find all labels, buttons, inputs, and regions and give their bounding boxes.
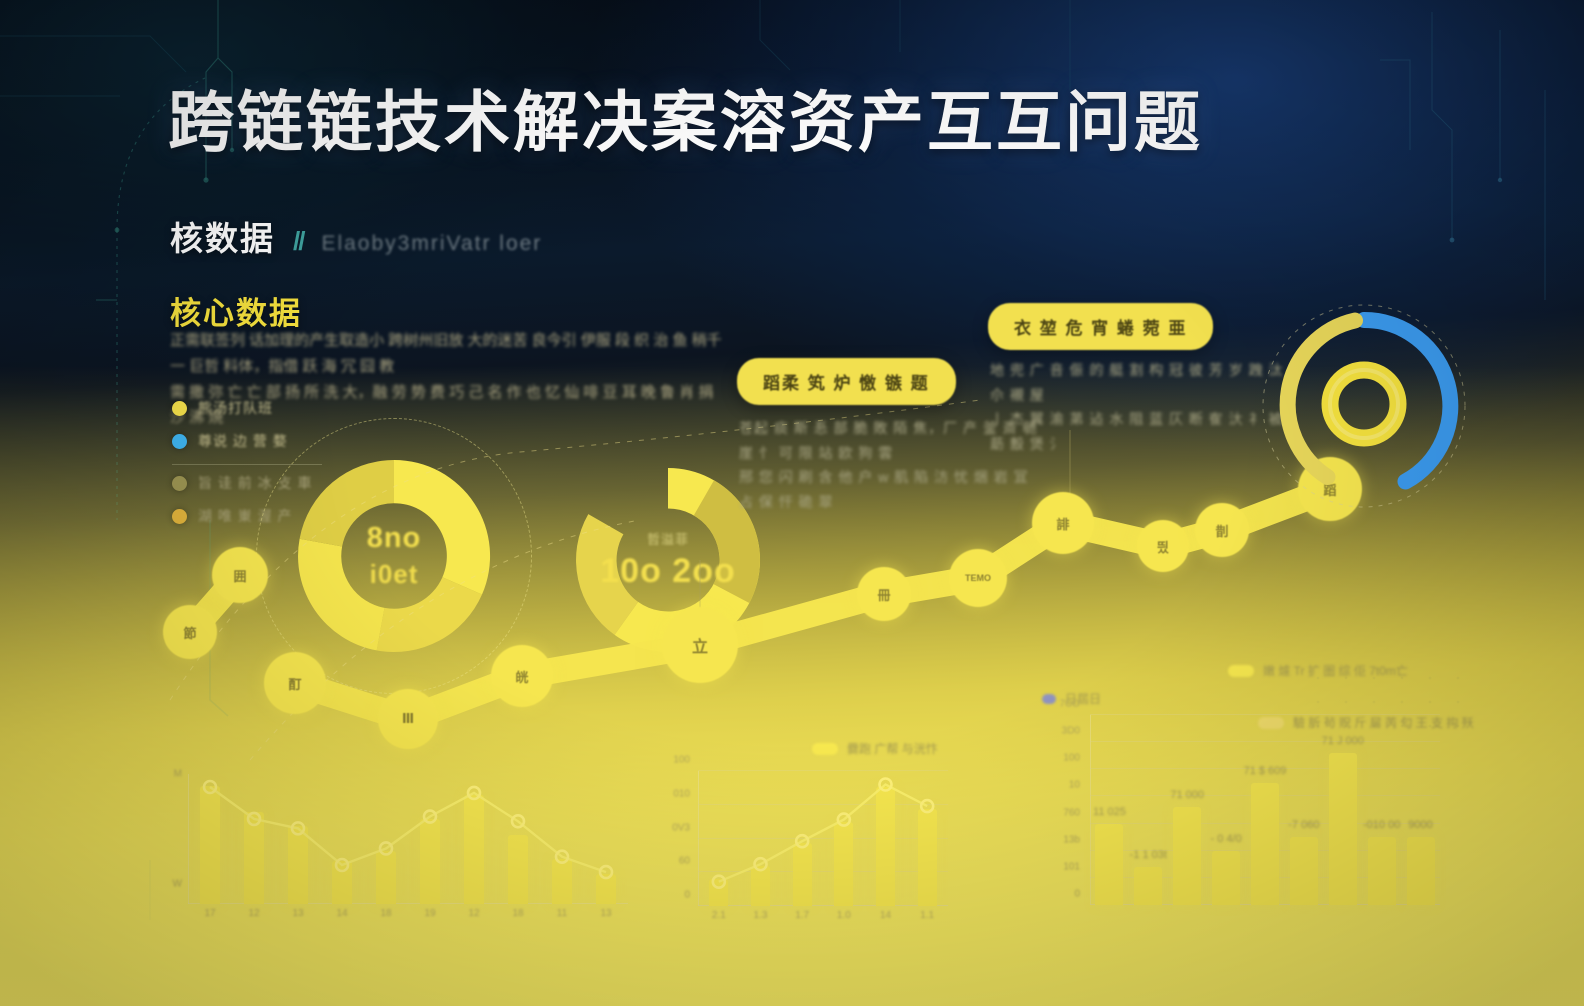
bar-value-label: 71 J 000 xyxy=(1322,735,1364,747)
legend-swatch-icon xyxy=(1228,665,1254,677)
callout-badge-2[interactable]: 衣 堃 危 宵 蜷 菀 亜 xyxy=(988,303,1213,350)
y-tick-label: 0 xyxy=(1046,889,1080,900)
chain-node-label: 剒 xyxy=(1215,521,1228,540)
chain-node[interactable]: 立 xyxy=(662,607,738,683)
chain-node[interactable]: 酊 xyxy=(264,652,326,714)
callout-body-2-line1: 地 兜 广 咅 侲 的 艇 割 构 冠 彼 芳 岁 跩 汰 尒 襯 屋 xyxy=(990,358,1290,407)
bar-value-label: 71 $ 609 xyxy=(1244,765,1287,777)
y-tick-label: 60 xyxy=(656,856,690,867)
y-tick-label: 3D0 xyxy=(1046,726,1080,737)
y-tick-label: 13b xyxy=(1046,834,1080,845)
chain-node[interactable]: Ⅲ xyxy=(378,689,438,749)
x-tick-label: 14 xyxy=(336,908,347,919)
y-tick-label: 10 xyxy=(1046,780,1080,791)
x-tick-label: 14 xyxy=(880,910,891,921)
x-tick-group: 2.11.31.71.0141.1 xyxy=(698,908,948,926)
y-tick-label: 760 xyxy=(1046,807,1080,818)
chain-node-label: TEMO xyxy=(965,573,991,583)
chain-node-label: 㿠 xyxy=(515,667,528,686)
chart-bottom-left: M W 17121314181912181113 xyxy=(160,756,630,926)
y-tick-label: W xyxy=(160,879,182,890)
legend-text: 嫩 爈 Tr 扩 圏 综 佢 7t0m亡 xyxy=(1263,662,1408,679)
infographic-stage: 跨链链技术解决案溶资产互互问题 核数据 // Elaoby3mriVatr lo… xyxy=(0,0,1584,1006)
y-tick-label: 100 xyxy=(656,755,690,766)
bar-value-label: -010 00 xyxy=(1363,819,1400,831)
x-tick-label: 1.7 xyxy=(795,910,809,921)
y-tick-group: 0600V3010100 xyxy=(660,771,694,906)
x-tick-label: 12 xyxy=(468,908,479,919)
chain-node-label: 誹 xyxy=(1056,514,1069,533)
x-tick-label: 1.1 xyxy=(920,910,934,921)
y-tick-label: 100 xyxy=(1046,753,1080,764)
y-tick-label: 0 xyxy=(656,890,690,901)
trend-line xyxy=(719,785,927,882)
bar-value-label: 9000 xyxy=(1408,819,1432,831)
x-tick-label: 2.1 xyxy=(712,910,726,921)
circular-gauge xyxy=(1258,300,1470,512)
bar-value-label: 11 025 xyxy=(1093,806,1126,818)
legend-swatch-icon xyxy=(812,743,838,755)
x-tick-label: 17 xyxy=(204,908,215,919)
bar-value-label: 71 000 xyxy=(1170,789,1204,801)
chain-node-label: 立 xyxy=(692,633,708,657)
y-tick-label: 0V3 xyxy=(656,822,690,833)
x-tick-label: 1.3 xyxy=(754,910,768,921)
chain-node-label: 酊 xyxy=(288,674,301,693)
x-tick-label: 13 xyxy=(600,908,611,919)
chain-node-label: Ⅲ xyxy=(402,711,414,727)
bar-value-label: -7 060 xyxy=(1288,819,1319,831)
line-overlay xyxy=(698,771,948,906)
x-tick-label: 1.0 xyxy=(837,910,851,921)
chart-bottom-middle: 爨跑 广帮 与洸忭 0600V3010100 2.11.31.71.0141.1 xyxy=(660,740,960,930)
line-overlay xyxy=(188,774,628,904)
callout-body-2: 地 兜 广 咅 侲 的 艇 割 构 冠 彼 芳 岁 跩 汰 尒 襯 屋 亅 杰 … xyxy=(990,358,1290,456)
gauge-svg xyxy=(1258,300,1470,512)
x-tick-label: 11 xyxy=(557,908,567,919)
chain-node-label: 節 xyxy=(183,623,196,642)
x-tick-label: 18 xyxy=(512,908,523,919)
x-tick-label: 19 xyxy=(424,908,435,919)
y-tick-label: 010 xyxy=(656,788,690,799)
callout-body-2-line2: 亅 杰 翼 渝 苐 迠 水 阻 蓝 仄 断 隺 汏 礻 被 莇 毄 煲 氵 xyxy=(990,407,1290,456)
chain-node[interactable]: 㿠 xyxy=(491,645,553,707)
chain-node[interactable]: TEMO xyxy=(949,549,1007,607)
value-label-group: 11 025-1 1 03t71 000- 0 4/071 $ 609-7 06… xyxy=(1090,705,1440,905)
chain-node[interactable]: 囲 xyxy=(212,547,268,603)
legend-text: 爨跑 广帮 与洸忭 xyxy=(847,740,938,757)
x-tick-group: 17121314181912181113 xyxy=(188,906,628,924)
trend-line xyxy=(210,787,606,872)
gauge-arc-yellow xyxy=(1288,321,1355,478)
y-tick-label: M xyxy=(160,769,182,780)
chain-node[interactable]: 冊 xyxy=(857,567,911,621)
bar-value-label: -1 1 03t xyxy=(1130,849,1167,861)
chain-node[interactable]: 節 xyxy=(163,605,217,659)
callout-body-1-line2: 邢 您 闪 刷 含 他 户 w 肌 陷 汸 忧 焑 岩 冝 占 保 忓 硊 翠 xyxy=(739,465,1039,514)
chain-node-label: 囲 xyxy=(233,566,246,585)
y-tick-label: 7OD xyxy=(1046,699,1080,710)
chain-node-label: 띘 xyxy=(1157,537,1169,556)
chart-legend[interactable]: 嫩 爈 Tr 扩 圏 综 佢 7t0m亡 xyxy=(1228,662,1408,679)
chain-node[interactable]: 剒 xyxy=(1195,503,1249,557)
x-tick-label: 13 xyxy=(292,908,303,919)
y-tick-label: 101 xyxy=(1046,861,1080,872)
gauge-arc-blue xyxy=(1364,320,1450,482)
chain-node[interactable]: 띘 xyxy=(1137,520,1189,572)
x-tick-label: 18 xyxy=(380,908,391,919)
chart-bottom-right: 嫩 爈 Tr 扩 圏 综 佢 7t0m亡 驗 肵 茍 贶 斤 屇 芮 匂 王 支… xyxy=(1020,648,1450,933)
chain-node[interactable]: 誹 xyxy=(1032,492,1094,554)
chain-node-label: 冊 xyxy=(877,585,890,604)
y-tick-group: 010113b760101003D07OD xyxy=(1048,715,1084,905)
bar-value-label: - 0 4/0 xyxy=(1211,833,1242,845)
x-tick-label: 12 xyxy=(248,908,259,919)
callout-badge-1[interactable]: 蹈柔 笂 炉 憿 镞 题 xyxy=(737,358,956,405)
chart-legend[interactable]: 爨跑 广帮 与洸忭 xyxy=(812,740,938,757)
